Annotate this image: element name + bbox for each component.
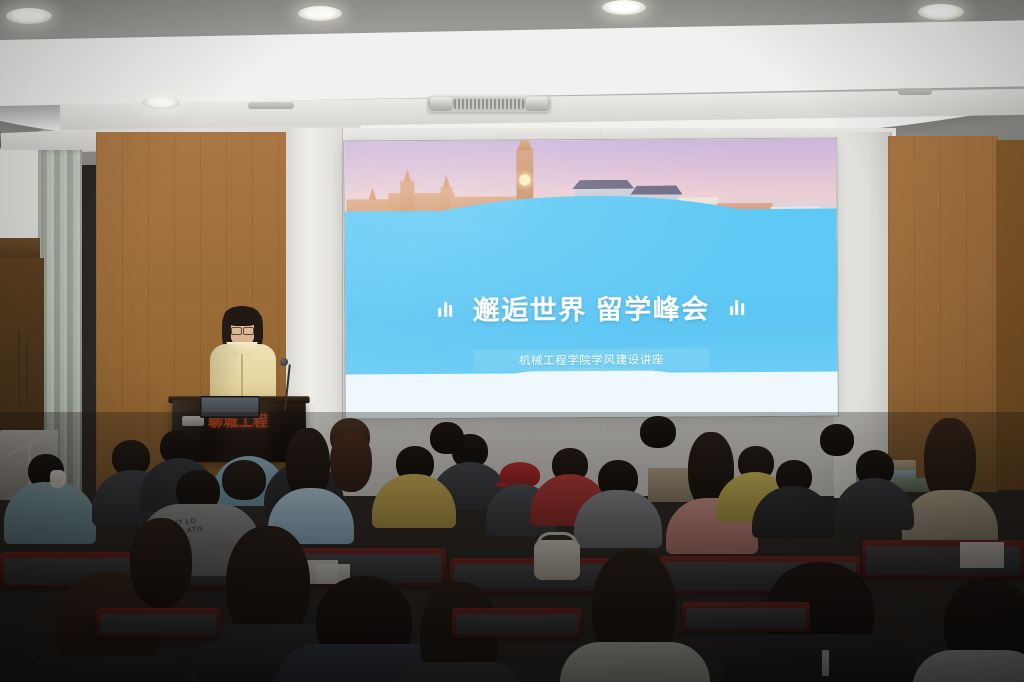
seat-cushion: [686, 608, 806, 629]
ceiling-downlight-3: [602, 0, 646, 15]
ceiling-downlight-5: [142, 96, 180, 109]
microphone-boom: [284, 364, 291, 410]
audience-shoulders: [394, 662, 524, 682]
audience-face-mask: [50, 470, 66, 488]
audience: MUT LO PRO ATIE L ET: [0, 412, 1024, 682]
slide-title: 邂逅世界 留学峰会: [473, 287, 710, 327]
ceiling-downlight-2: [298, 6, 342, 21]
audience-notebook: [960, 542, 1004, 568]
vent-slats: [454, 99, 524, 109]
bar-chart-mark-left-icon: [439, 300, 453, 317]
audience-head: [820, 424, 854, 456]
audience-long-hair: [130, 518, 192, 608]
ceiling-vent-small-left: [248, 102, 294, 109]
vent-cap-right: [526, 97, 548, 111]
audience-head: [222, 460, 266, 500]
microphone-head: [280, 358, 288, 366]
ceiling-air-vent: [428, 96, 550, 112]
presentation-slide: 邂逅世界 留学峰会 机械工程学院学风建设讲座: [344, 138, 838, 418]
ceiling-downlight-4: [918, 4, 964, 20]
podium-microphone: [268, 358, 298, 410]
slide-title-row: 邂逅世界 留学峰会: [345, 286, 837, 328]
audience-shirt-tag: [822, 650, 829, 676]
photo-big-ben-clock-face: [519, 174, 530, 185]
seat-row[interactable]: [682, 602, 810, 632]
seat-cushion: [456, 614, 578, 635]
photo-big-ben-spire: [517, 138, 532, 150]
audience-shoulders: [4, 482, 96, 544]
slide-subtitle: 机械工程学院学风建设讲座: [519, 352, 664, 369]
audience-shoulders: [560, 642, 710, 682]
audience-shoulders: [22, 656, 192, 682]
bar-chart-mark-right-icon: [730, 298, 744, 315]
photo-roof-a: [572, 180, 634, 189]
audience-shoulders: [834, 478, 914, 530]
seat-row[interactable]: [96, 608, 220, 638]
seat-cushion: [100, 614, 216, 635]
ceiling-vent-small-right: [898, 88, 932, 95]
audience-long-hair: [330, 432, 372, 492]
audience-head: [430, 422, 464, 454]
slide-subtitle-band: 机械工程学院学风建设讲座: [473, 348, 709, 371]
audience-tote-bag: [534, 540, 580, 580]
audience-shoulders: [722, 634, 918, 682]
audience-shoulders: [912, 650, 1024, 682]
ceiling-downlight-1: [6, 8, 52, 24]
lecture-hall-photo: 邂逅世界 留学峰会 机械工程学院学风建设讲座 聊城工程: [0, 0, 1024, 682]
audience-shoulders: [574, 490, 662, 548]
tote-bag-strap: [536, 532, 578, 546]
photo-roof-b: [630, 185, 682, 194]
speaker-glasses: [231, 327, 254, 333]
audience-head: [640, 416, 676, 448]
seat-row[interactable]: [452, 608, 582, 638]
projection-screen: 邂逅世界 留学峰会 机械工程学院学风建设讲座: [344, 138, 838, 418]
vent-cap-left: [430, 97, 452, 111]
